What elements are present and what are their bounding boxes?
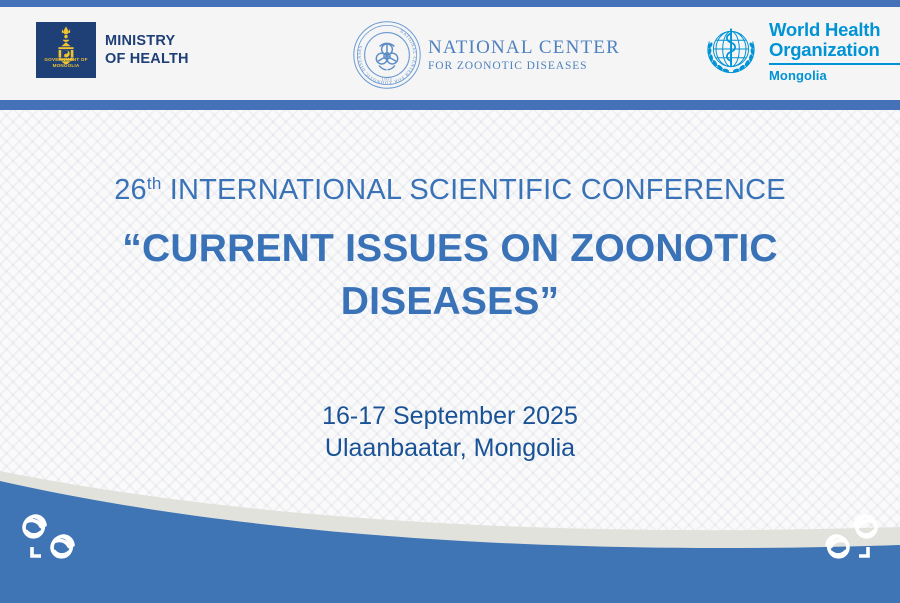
mongolian-knot-ornament-right-icon [810,507,882,569]
who-logo: World Health Organization Mongolia [700,20,900,83]
subtitle-rest: INTERNATIONAL SCIENTIFIC CONFERENCE [161,174,785,206]
conference-title-slide: GOVERNMENT OF MONGOLIA MINISTRY OF HEALT… [0,0,900,603]
who-name: World Health Organization Mongolia [769,20,900,83]
conference-title: “CURRENT ISSUES ON ZOONOTIC DISEASES” [105,222,795,328]
ministry-of-health-logo: GOVERNMENT OF MONGOLIA MINISTRY OF HEALT… [36,22,189,78]
event-dates: 16-17 September 2025 [0,400,900,432]
seal-year: 1951 [381,77,392,82]
who-emblem-icon [700,20,762,82]
title-block: 26th INTERNATIONAL SCIENTIFIC CONFERENCE… [0,110,900,464]
mongolia-government-emblem: GOVERNMENT OF MONGOLIA [36,22,96,78]
bottom-wave-band [0,453,900,603]
national-center-zoonotic-diseases-logo: NATIONAL CENTER FOR ZOONOTIC DISEASES 19… [352,20,620,90]
national-center-name: NATIONAL CENTER FOR ZOONOTIC DISEASES [428,37,620,73]
header-divider-bar [0,100,900,110]
edition-number: 26 [114,174,147,206]
conference-subtitle: 26th INTERNATIONAL SCIENTIFIC CONFERENCE [0,172,900,208]
top-accent-bar [0,0,900,7]
edition-suffix: th [147,174,162,193]
ministry-of-health-name: MINISTRY OF HEALTH [105,32,189,68]
mongolian-knot-ornament-left-icon [18,507,90,569]
biohazard-seal-icon: NATIONAL CENTER FOR ZOONOTIC DISEASES 19… [352,20,422,90]
emblem-caption: GOVERNMENT OF MONGOLIA [36,57,96,69]
who-underline-rule [769,63,900,65]
